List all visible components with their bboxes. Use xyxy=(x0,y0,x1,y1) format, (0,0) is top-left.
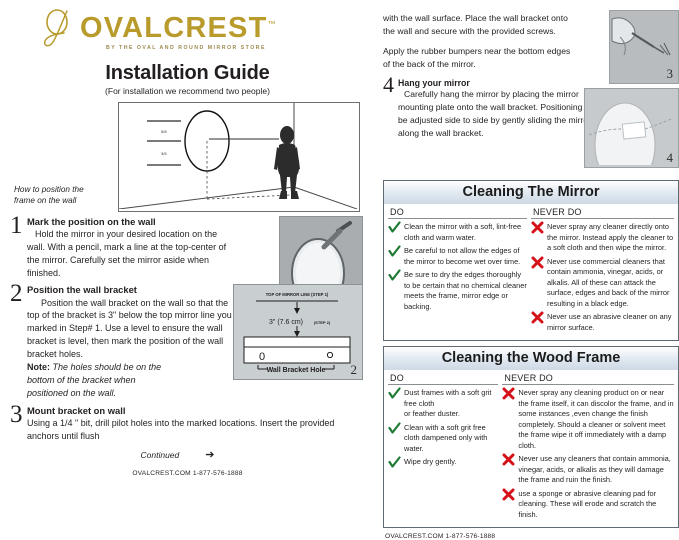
list-item-text: Never spray any cleaner directly onto th… xyxy=(547,222,674,254)
step-4: 4 Hang your mirror Carefully hang the mi… xyxy=(383,78,603,140)
panel-mirror-title: Cleaning The Mirror xyxy=(384,181,678,204)
list-item: Never spray any cleaning product on or n… xyxy=(502,388,674,451)
step-2-number: 2 xyxy=(10,281,23,306)
cross-icon xyxy=(531,311,544,324)
brand-logo: OVALCREST™ BY THE OVAL AND ROUND MIRROR … xyxy=(10,8,365,54)
list-item-text: Clean the mirror with a soft, lint-free … xyxy=(404,222,527,243)
list-item-text: use a sponge or abrasive cleaning pad fo… xyxy=(518,489,674,521)
svg-text:0: 0 xyxy=(259,351,265,363)
step-3-number: 3 xyxy=(10,402,23,427)
panel-mirror-never-title: NEVER DO xyxy=(531,206,674,219)
right-column: with the wall surface. Place the wall br… xyxy=(383,0,679,489)
svg-text:Wall Bracket Hole: Wall Bracket Hole xyxy=(267,367,326,374)
list-item-text: Never use any cleaners that contain ammo… xyxy=(518,454,674,486)
figure-3-label: 3 xyxy=(667,66,674,82)
page-subtitle: (For installation we recommend two peopl… xyxy=(10,86,365,96)
brand-wordmark: OVALCREST™ xyxy=(80,14,277,43)
list-item-text: Wipe dry gently. xyxy=(404,457,456,468)
list-item: Be sure to dry the edges thoroughly to b… xyxy=(388,270,527,312)
check-icon xyxy=(388,456,401,469)
panel-cleaning-the-mirror: Cleaning The Mirror DO Clean the mirror … xyxy=(383,180,679,341)
list-item: Never spray any cleaner directly onto th… xyxy=(531,222,674,254)
room-illustration-caption: How to position theframe on the wall xyxy=(10,184,118,212)
step-3-heading: Mount bracket on wall xyxy=(27,405,365,416)
step-2-body: Position the wall bracket on the wall so… xyxy=(27,297,237,361)
svg-text:5/8: 5/8 xyxy=(161,129,167,134)
arrow-right-icon: ➔ xyxy=(205,449,214,461)
cross-icon xyxy=(502,387,515,400)
list-item: Dust frames with a soft grit free cloth … xyxy=(388,388,498,420)
step-4-heading: Hang your mirror xyxy=(398,78,603,88)
svg-text:(STEP 2): (STEP 2) xyxy=(314,320,331,325)
trademark-symbol: ™ xyxy=(268,19,277,28)
panel-wood-do-column: DO Dust frames with a soft grit free clo… xyxy=(388,372,502,523)
panel-wood-never-title: NEVER DO xyxy=(502,372,674,385)
step-4-number: 4 xyxy=(383,74,394,96)
oval-script-mark-icon xyxy=(40,8,78,48)
continued-label: Continued xyxy=(141,450,180,460)
cross-icon xyxy=(531,256,544,269)
page-title: Installation Guide xyxy=(10,62,365,85)
check-icon xyxy=(388,269,401,282)
step-1-body: Hold the mirror in your desired location… xyxy=(27,228,232,279)
installation-guide-page: OVALCREST™ BY THE OVAL AND ROUND MIRROR … xyxy=(0,0,679,489)
list-item: Never use commercial cleaners that conta… xyxy=(531,257,674,310)
check-icon xyxy=(388,387,401,400)
step-1: 1 Mark the position on the wall Hold the… xyxy=(10,216,365,279)
panel-mirror-do-title: DO xyxy=(388,206,527,219)
panel-wood-do-title: DO xyxy=(388,372,498,385)
panel-mirror-never-column: NEVER DO Never spray any cleaner directl… xyxy=(531,206,674,336)
list-item: Wipe dry gently. xyxy=(388,457,498,469)
steps-list: 1 Mark the position on the wall Hold the… xyxy=(10,216,365,443)
footer-left: OVALCREST.COM 1-877-576-1888 xyxy=(10,470,365,477)
list-item-text: Never spray any cleaning product on or n… xyxy=(518,388,674,451)
figure-4-hanging-mirror-photo: 4 xyxy=(584,88,679,168)
panel-cleaning-the-wood-frame: Cleaning the Wood Frame DO Dust frames w… xyxy=(383,346,679,528)
room-illustration: 5/8 3/5 xyxy=(118,102,360,212)
panel-wood-title: Cleaning the Wood Frame xyxy=(384,347,678,370)
list-item: use a sponge or abrasive cleaning pad fo… xyxy=(502,489,674,521)
continuation-paragraph-1: with the wall surface. Place the wall br… xyxy=(383,12,573,38)
left-column: OVALCREST™ BY THE OVAL AND ROUND MIRROR … xyxy=(0,0,375,489)
list-item-text: Be sure to dry the edges thoroughly to b… xyxy=(404,270,527,312)
right-top-block: with the wall surface. Place the wall br… xyxy=(383,0,679,180)
step-2: 2 Position the wall bracket Position the… xyxy=(10,284,365,399)
list-item-text: Clean with a soft grit free cloth dampen… xyxy=(404,423,498,455)
list-item-text: Never use commercial cleaners that conta… xyxy=(547,257,674,310)
cross-icon xyxy=(531,221,544,234)
panel-mirror-do-column: DO Clean the mirror with a soft, lint-fr… xyxy=(388,206,531,336)
brand-tagline: BY THE OVAL AND ROUND MIRROR STORE xyxy=(106,45,277,51)
footer-right: OVALCREST.COM 1-877-576-1888 xyxy=(383,533,679,540)
continuation-paragraph-2: Apply the rubber bumpers near the bottom… xyxy=(383,45,573,71)
list-item: Never use any cleaners that contain ammo… xyxy=(502,454,674,486)
cross-icon xyxy=(502,453,515,466)
continued-marker: Continued➔ xyxy=(0,448,365,461)
step-2-note: Note: The holes should be on the bottom … xyxy=(27,361,177,399)
figure-2-bracket-diagram: TOP OF MIRROR LINE (STEP 1) 3" (7.6 cm) … xyxy=(233,284,363,380)
check-icon xyxy=(388,221,401,234)
list-item: Clean with a soft grit free cloth dampen… xyxy=(388,423,498,455)
list-item: Be careful to not allow the edges of the… xyxy=(388,246,527,267)
step-1-number: 1 xyxy=(10,213,23,238)
list-item-text: Dust frames with a soft grit free cloth … xyxy=(404,388,498,420)
list-item: Clean the mirror with a soft, lint-free … xyxy=(388,222,527,243)
figure-4-label: 4 xyxy=(667,150,674,166)
continuation-text: with the wall surface. Place the wall br… xyxy=(383,12,573,71)
list-item-text: Never use an abrasive cleaner on any mir… xyxy=(547,312,674,333)
room-illustration-block: How to position theframe on the wall 5/8… xyxy=(10,102,365,212)
step-4-body: Carefully hang the mirror by placing the… xyxy=(398,88,603,140)
step-3-body: Using a 1/4 " bit, drill pilot holes int… xyxy=(13,417,357,443)
svg-text:TOP OF MIRROR LINE (STEP 1): TOP OF MIRROR LINE (STEP 1) xyxy=(266,292,329,297)
figure-3-screw-photo: 3 xyxy=(609,10,679,84)
step-3: 3 Mount bracket on wall Using a 1/4 " bi… xyxy=(10,405,365,443)
cross-icon xyxy=(502,488,515,501)
panel-wood-never-column: NEVER DO Never spray any cleaning produc… xyxy=(502,372,674,523)
step-2-note-label: Note: xyxy=(27,362,50,372)
list-item-text: Be careful to not allow the edges of the… xyxy=(404,246,527,267)
check-icon xyxy=(388,422,401,435)
figure-2-label: 2 xyxy=(351,362,358,378)
svg-text:3" (7.6 cm): 3" (7.6 cm) xyxy=(269,319,303,326)
check-icon xyxy=(388,245,401,258)
list-item: Never use an abrasive cleaner on any mir… xyxy=(531,312,674,333)
svg-text:3/5: 3/5 xyxy=(161,151,167,156)
